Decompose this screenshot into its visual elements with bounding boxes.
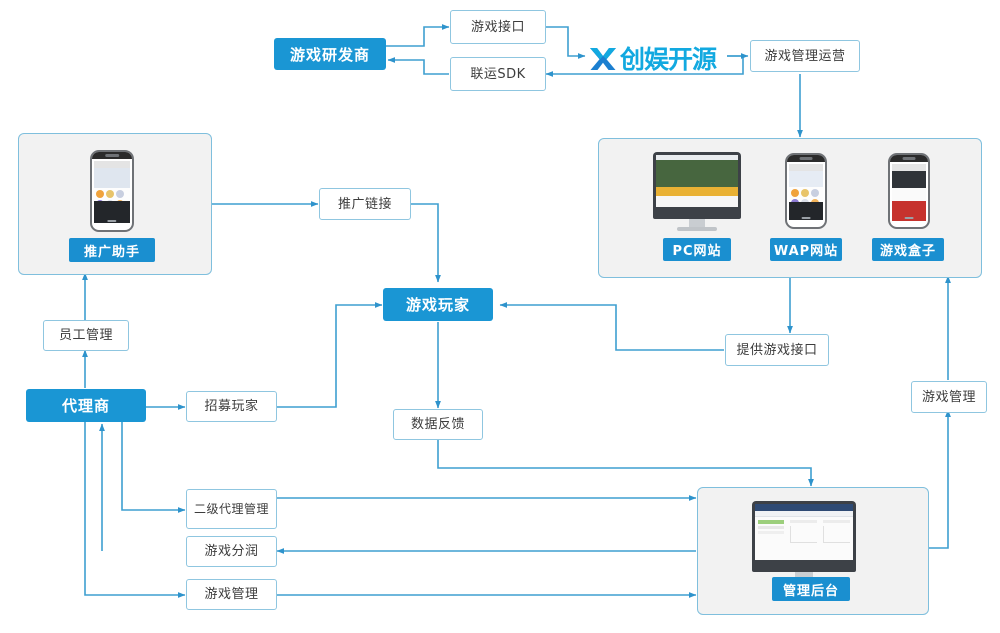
node-label: 数据反馈 bbox=[411, 416, 465, 433]
node-label: 推广链接 bbox=[338, 196, 392, 213]
node-label: 游戏管理运营 bbox=[764, 48, 845, 65]
node-promo-link[interactable]: 推广链接 bbox=[319, 188, 411, 220]
phone-status-bar bbox=[892, 164, 926, 171]
node-label: 游戏管理 bbox=[922, 389, 976, 406]
admin-card bbox=[755, 517, 787, 560]
app-icon bbox=[801, 189, 809, 197]
phone-screen bbox=[94, 161, 130, 223]
admin-body bbox=[755, 517, 853, 560]
game-box-phone-device bbox=[888, 153, 930, 229]
node-game-management-left[interactable]: 游戏管理 bbox=[186, 579, 277, 610]
wap-phone-device bbox=[785, 153, 827, 229]
monitor-bezel bbox=[653, 152, 741, 219]
site-banner bbox=[656, 187, 738, 196]
admin-monitor-device bbox=[752, 501, 856, 585]
monitor-stand bbox=[689, 219, 705, 227]
diagram-canvas: 游戏研发商 游戏接口 联运SDK 创娱开源 游戏管理运营 bbox=[0, 0, 1000, 633]
node-label: 二级代理管理 bbox=[194, 502, 269, 517]
brand-name: 创娱开源 bbox=[620, 40, 716, 76]
monitor-base bbox=[677, 227, 717, 231]
admin-panel-label[interactable]: 管理后台 bbox=[772, 577, 850, 601]
app-icon bbox=[116, 190, 124, 198]
game-list bbox=[892, 188, 926, 201]
channel-label-gamebox[interactable]: 游戏盒子 bbox=[872, 238, 944, 261]
node-label: 游戏分润 bbox=[204, 543, 258, 560]
brand-logo: 创娱开源 bbox=[588, 40, 716, 76]
channel-label-wap[interactable]: WAP网站 bbox=[770, 238, 842, 261]
node-data-feedback[interactable]: 数据反馈 bbox=[393, 409, 483, 440]
phone-notch bbox=[890, 155, 928, 162]
node-label: 联运SDK bbox=[470, 66, 525, 83]
site-hero bbox=[656, 160, 738, 187]
app-icon bbox=[96, 190, 104, 198]
admin-chart bbox=[787, 517, 820, 560]
phone-home-indicator bbox=[802, 217, 811, 219]
node-joint-sdk[interactable]: 联运SDK bbox=[450, 57, 546, 91]
label-text: 推广助手 bbox=[84, 241, 140, 260]
phone-home-indicator bbox=[107, 220, 116, 222]
phone-notch bbox=[787, 155, 825, 162]
x-logo-icon bbox=[588, 45, 618, 71]
phone-home-indicator bbox=[905, 217, 914, 219]
node-ops[interactable]: 游戏管理运营 bbox=[750, 40, 860, 72]
promoter-panel-label[interactable]: 推广助手 bbox=[69, 238, 155, 262]
node-sub-agent-management[interactable]: 二级代理管理 bbox=[186, 489, 277, 529]
node-label: 招募玩家 bbox=[204, 398, 258, 415]
node-label: 代理商 bbox=[62, 395, 110, 416]
node-label: 游戏玩家 bbox=[406, 294, 470, 315]
node-recruit-players[interactable]: 招募玩家 bbox=[186, 391, 277, 422]
node-label: 员工管理 bbox=[59, 327, 113, 344]
phone-screen bbox=[892, 164, 926, 220]
channel-label-pc[interactable]: PC网站 bbox=[663, 238, 731, 261]
node-label: 游戏接口 bbox=[471, 19, 525, 36]
node-label: 游戏研发商 bbox=[290, 44, 370, 65]
phone-banner bbox=[94, 168, 130, 188]
node-staff-management[interactable]: 员工管理 bbox=[43, 320, 129, 351]
label-text: WAP网站 bbox=[774, 240, 838, 259]
phone-banner bbox=[789, 171, 823, 187]
app-icon bbox=[791, 189, 799, 197]
monitor-bezel bbox=[752, 501, 856, 572]
node-game-api[interactable]: 游戏接口 bbox=[450, 10, 546, 44]
monitor-screen bbox=[656, 155, 738, 207]
node-agent[interactable]: 代理商 bbox=[26, 389, 146, 422]
monitor-screen bbox=[755, 504, 853, 560]
node-label: 游戏管理 bbox=[204, 586, 258, 603]
node-label: 提供游戏接口 bbox=[736, 342, 817, 359]
app-icon bbox=[106, 190, 114, 198]
node-provide-game-api[interactable]: 提供游戏接口 bbox=[725, 334, 829, 366]
phone-status-bar bbox=[789, 164, 823, 171]
label-text: PC网站 bbox=[672, 240, 721, 259]
node-game-management-right[interactable]: 游戏管理 bbox=[911, 381, 987, 413]
label-text: 管理后台 bbox=[783, 580, 839, 599]
admin-chart bbox=[820, 517, 853, 560]
phone-status-bar bbox=[94, 161, 130, 168]
game-hero bbox=[892, 171, 926, 188]
app-icon bbox=[811, 189, 819, 197]
node-developer[interactable]: 游戏研发商 bbox=[274, 38, 386, 70]
phone-notch bbox=[92, 152, 132, 159]
pc-monitor-device bbox=[653, 152, 741, 231]
promoter-phone-device bbox=[90, 150, 134, 232]
node-game-profit[interactable]: 游戏分润 bbox=[186, 536, 277, 567]
node-players[interactable]: 游戏玩家 bbox=[383, 288, 493, 321]
admin-titlebar bbox=[755, 504, 853, 511]
label-text: 游戏盒子 bbox=[880, 240, 936, 259]
phone-screen bbox=[789, 164, 823, 220]
site-body bbox=[656, 196, 738, 207]
